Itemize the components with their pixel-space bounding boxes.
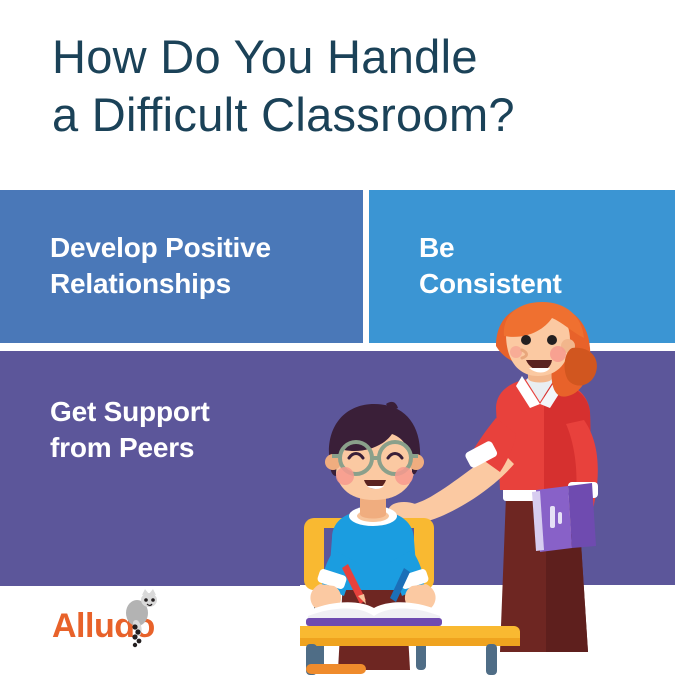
tip-panel-relationships: Develop Positive Relationships bbox=[0, 190, 363, 343]
brand-logo: Alludo bbox=[52, 603, 155, 649]
tip-panel-consistent-label: Be Consistent bbox=[419, 230, 562, 302]
tip-panel-consistent: Be Consistent bbox=[369, 190, 675, 343]
poster-canvas: How Do You Handle a Difficult Classroom?… bbox=[0, 0, 675, 675]
tip-panel-relationships-label: Develop Positive Relationships bbox=[50, 230, 271, 302]
tip-panel-peers: Get Support from Peers bbox=[0, 351, 675, 586]
page-title: How Do You Handle a Difficult Classroom? bbox=[52, 28, 652, 145]
tip-panel-peers-label: Get Support from Peers bbox=[50, 394, 210, 466]
lemur-icon bbox=[116, 589, 166, 649]
